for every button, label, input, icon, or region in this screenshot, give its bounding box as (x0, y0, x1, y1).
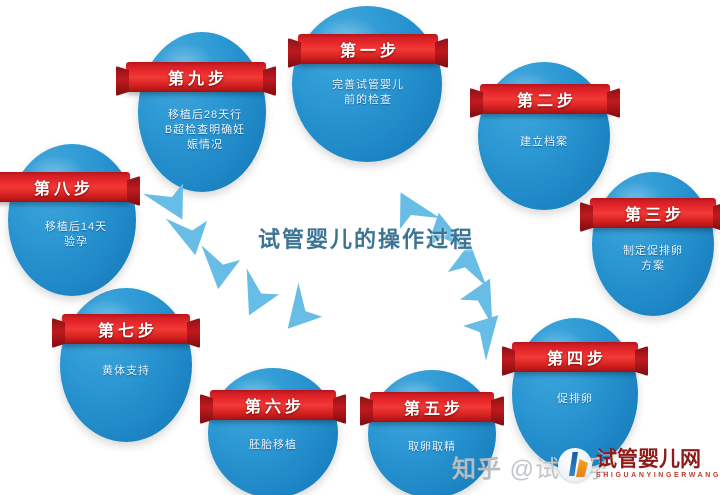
step-ribbon-7: 第七步 (62, 314, 190, 344)
site-logo-watermark: 试管婴儿网 SHIGUANYINGERWANG (558, 448, 720, 482)
ribbon-tail-left (360, 396, 373, 426)
site-logo-names: 试管婴儿网 SHIGUANYINGERWANG (596, 449, 720, 481)
ribbon-tail-left (502, 346, 515, 376)
step-ribbon-2: 第二步 (480, 84, 610, 114)
step-ribbon-label-2: 第二步 (513, 87, 577, 111)
step-ribbon-label-8: 第八步 (30, 175, 94, 199)
ribbon-tail-right (127, 176, 140, 206)
step-ribbon-5: 第五步 (370, 392, 494, 422)
step-ribbon-6: 第六步 (210, 390, 336, 420)
step-body-8: 移植后14天 验孕 (14, 220, 138, 250)
infographic-canvas: 第一步完善试管婴儿 前的检查第二步建立档案第三步制定促排卵 方案第四步促排卵第五… (0, 0, 720, 495)
zhihu-watermark-brand: 知乎 (452, 456, 502, 483)
ribbon-tail-right (635, 346, 648, 376)
ribbon-tail-right (607, 88, 620, 118)
step-ribbon-3: 第三步 (590, 198, 716, 228)
site-logo-name-en: SHIGUANYINGERWANG (596, 471, 720, 481)
ribbon-tail-right (333, 394, 346, 424)
step-ribbon-8: 第八步 (0, 172, 130, 202)
ribbon-tail-right (435, 38, 448, 68)
site-logo-name-cn: 试管婴儿网 (596, 449, 720, 471)
ribbon-tail-right (491, 396, 504, 426)
step-body-2: 建立档案 (478, 135, 610, 150)
step-ribbon-label-7: 第七步 (94, 317, 158, 341)
step-body-1: 完善试管婴儿 前的检查 (300, 78, 436, 108)
step-ribbon-label-6: 第六步 (241, 393, 305, 417)
page-title: 试管婴儿的操作过程 (236, 222, 496, 254)
step-body-6: 胚胎移植 (208, 438, 338, 453)
step-circle-6 (208, 368, 338, 495)
ribbon-tail-left (288, 38, 301, 68)
step-ribbon-9: 第九步 (126, 62, 266, 92)
step-ribbon-label-3: 第三步 (621, 201, 685, 225)
step-body-7: 黄体支持 (60, 364, 192, 379)
step-ribbon-label-1: 第一步 (336, 37, 400, 61)
ribbon-tail-right (713, 202, 720, 232)
ribbon-tail-left (200, 394, 213, 424)
ribbon-tail-right (263, 66, 276, 96)
site-logo-icon (558, 448, 592, 482)
ribbon-tail-right (187, 318, 200, 348)
step-body-4: 促排卵 (512, 392, 638, 407)
step-body-9: 移植后28天行 B超检查明确妊 娠情况 (144, 108, 266, 153)
step-ribbon-label-9: 第九步 (164, 65, 228, 89)
ribbon-tail-left (580, 202, 593, 232)
step-ribbon-label-5: 第五步 (400, 395, 464, 419)
step-ribbon-label-4: 第四步 (543, 345, 607, 369)
step-ribbon-4: 第四步 (512, 342, 638, 372)
ribbon-tail-left (470, 88, 483, 118)
step-body-3: 制定促排卵 方案 (592, 244, 714, 274)
step-ribbon-1: 第一步 (298, 34, 438, 64)
ribbon-tail-left (116, 66, 129, 96)
ribbon-tail-left (52, 318, 65, 348)
